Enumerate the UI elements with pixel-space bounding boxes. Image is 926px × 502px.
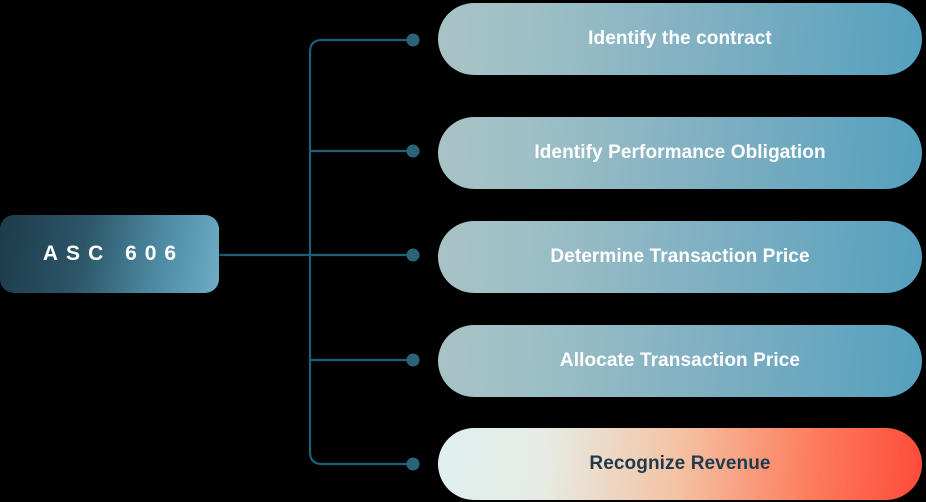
diagram-canvas: ASC 606 Identify the contract Identify P… bbox=[0, 0, 926, 502]
step-node-2[interactable]: Identify Performance Obligation bbox=[438, 117, 922, 189]
step-node-4[interactable]: Allocate Transaction Price bbox=[438, 325, 922, 397]
step-node-5[interactable]: Recognize Revenue bbox=[438, 428, 922, 500]
step-node-1-label: Identify the contract bbox=[588, 28, 772, 50]
connector-trunk bbox=[310, 40, 413, 464]
step-node-4-label: Allocate Transaction Price bbox=[560, 350, 800, 372]
connector-dot-3 bbox=[407, 249, 420, 262]
step-node-5-label: Recognize Revenue bbox=[589, 453, 770, 475]
root-node-label: ASC 606 bbox=[35, 242, 184, 266]
step-node-2-label: Identify Performance Obligation bbox=[534, 142, 825, 164]
step-node-1[interactable]: Identify the contract bbox=[438, 3, 922, 75]
connector-dot-1 bbox=[407, 34, 420, 47]
connector-dot-5 bbox=[407, 458, 420, 471]
step-node-3[interactable]: Determine Transaction Price bbox=[438, 221, 922, 293]
connector-dot-2 bbox=[407, 145, 420, 158]
root-node-asc-606[interactable]: ASC 606 bbox=[0, 215, 219, 293]
connector-dot-4 bbox=[407, 354, 420, 367]
step-node-3-label: Determine Transaction Price bbox=[550, 246, 809, 268]
